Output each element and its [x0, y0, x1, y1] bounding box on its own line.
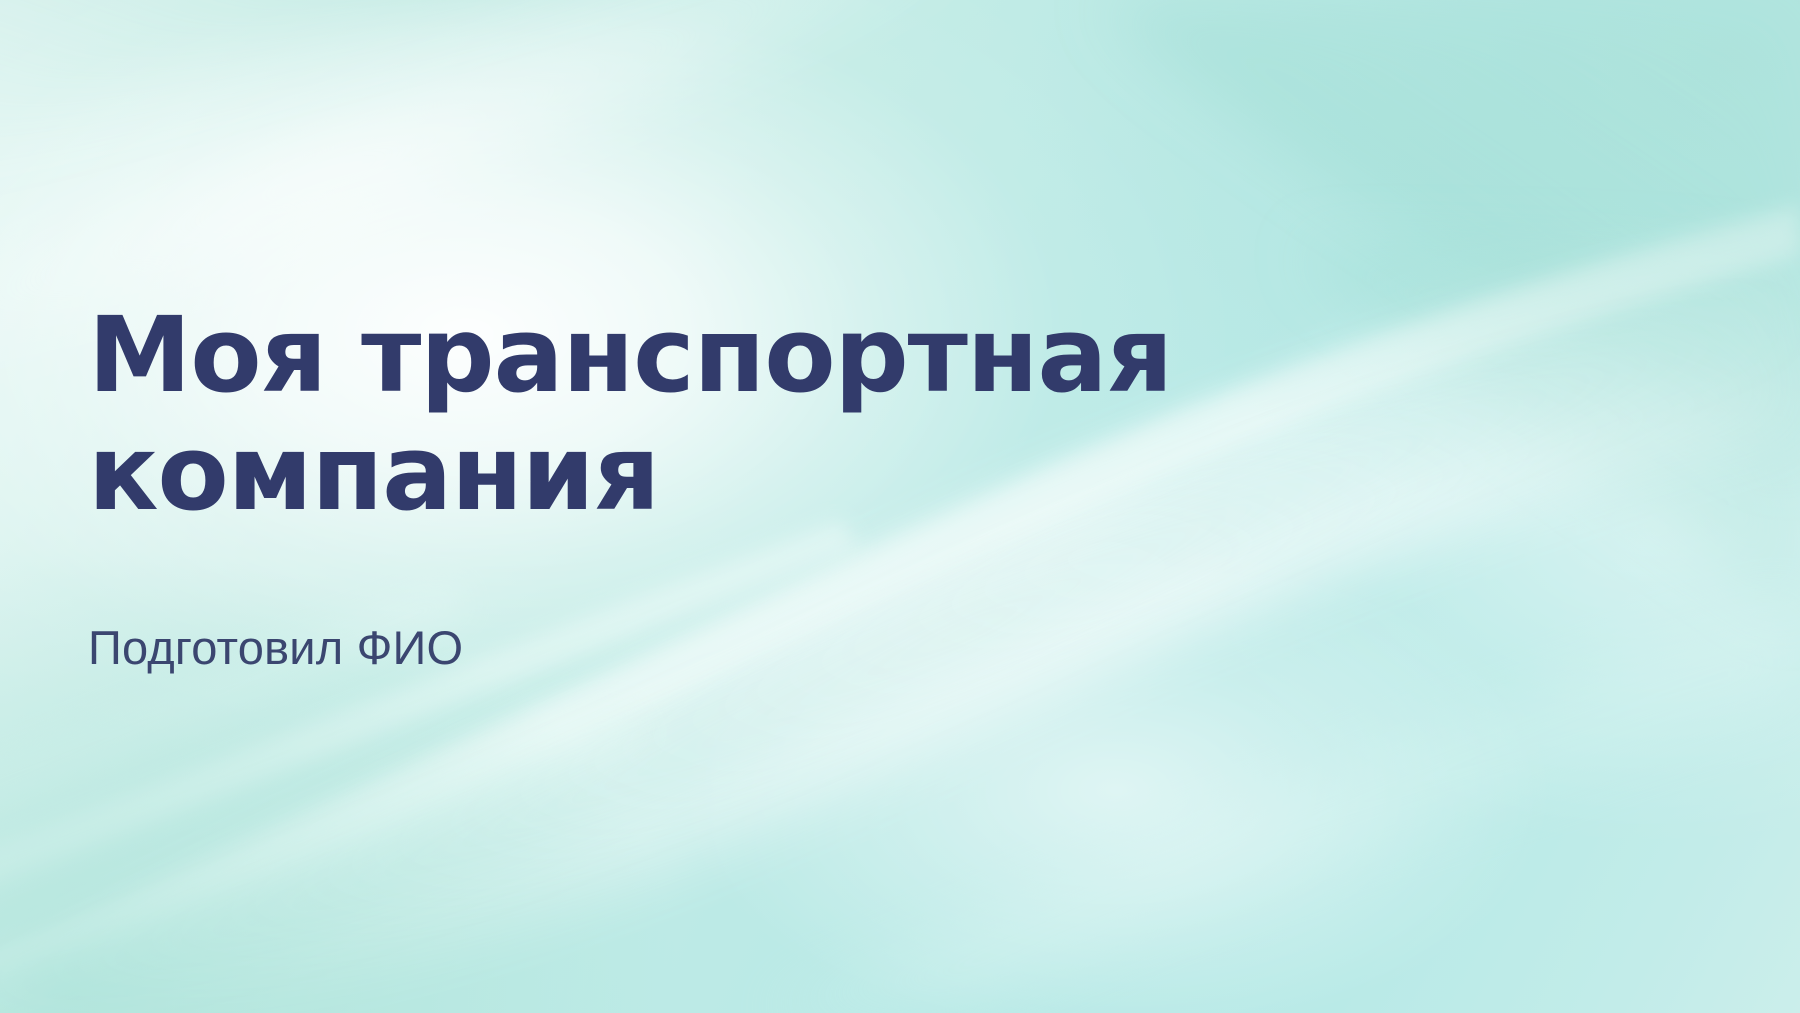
slide-title: Моя транспортная компания	[88, 296, 1388, 532]
slide-subtitle-author: Подготовил ФИО	[88, 532, 1388, 676]
title-slide: Моя транспортная компания Подготовил ФИО	[0, 0, 1800, 1013]
slide-content: Моя транспортная компания Подготовил ФИО	[88, 296, 1388, 676]
